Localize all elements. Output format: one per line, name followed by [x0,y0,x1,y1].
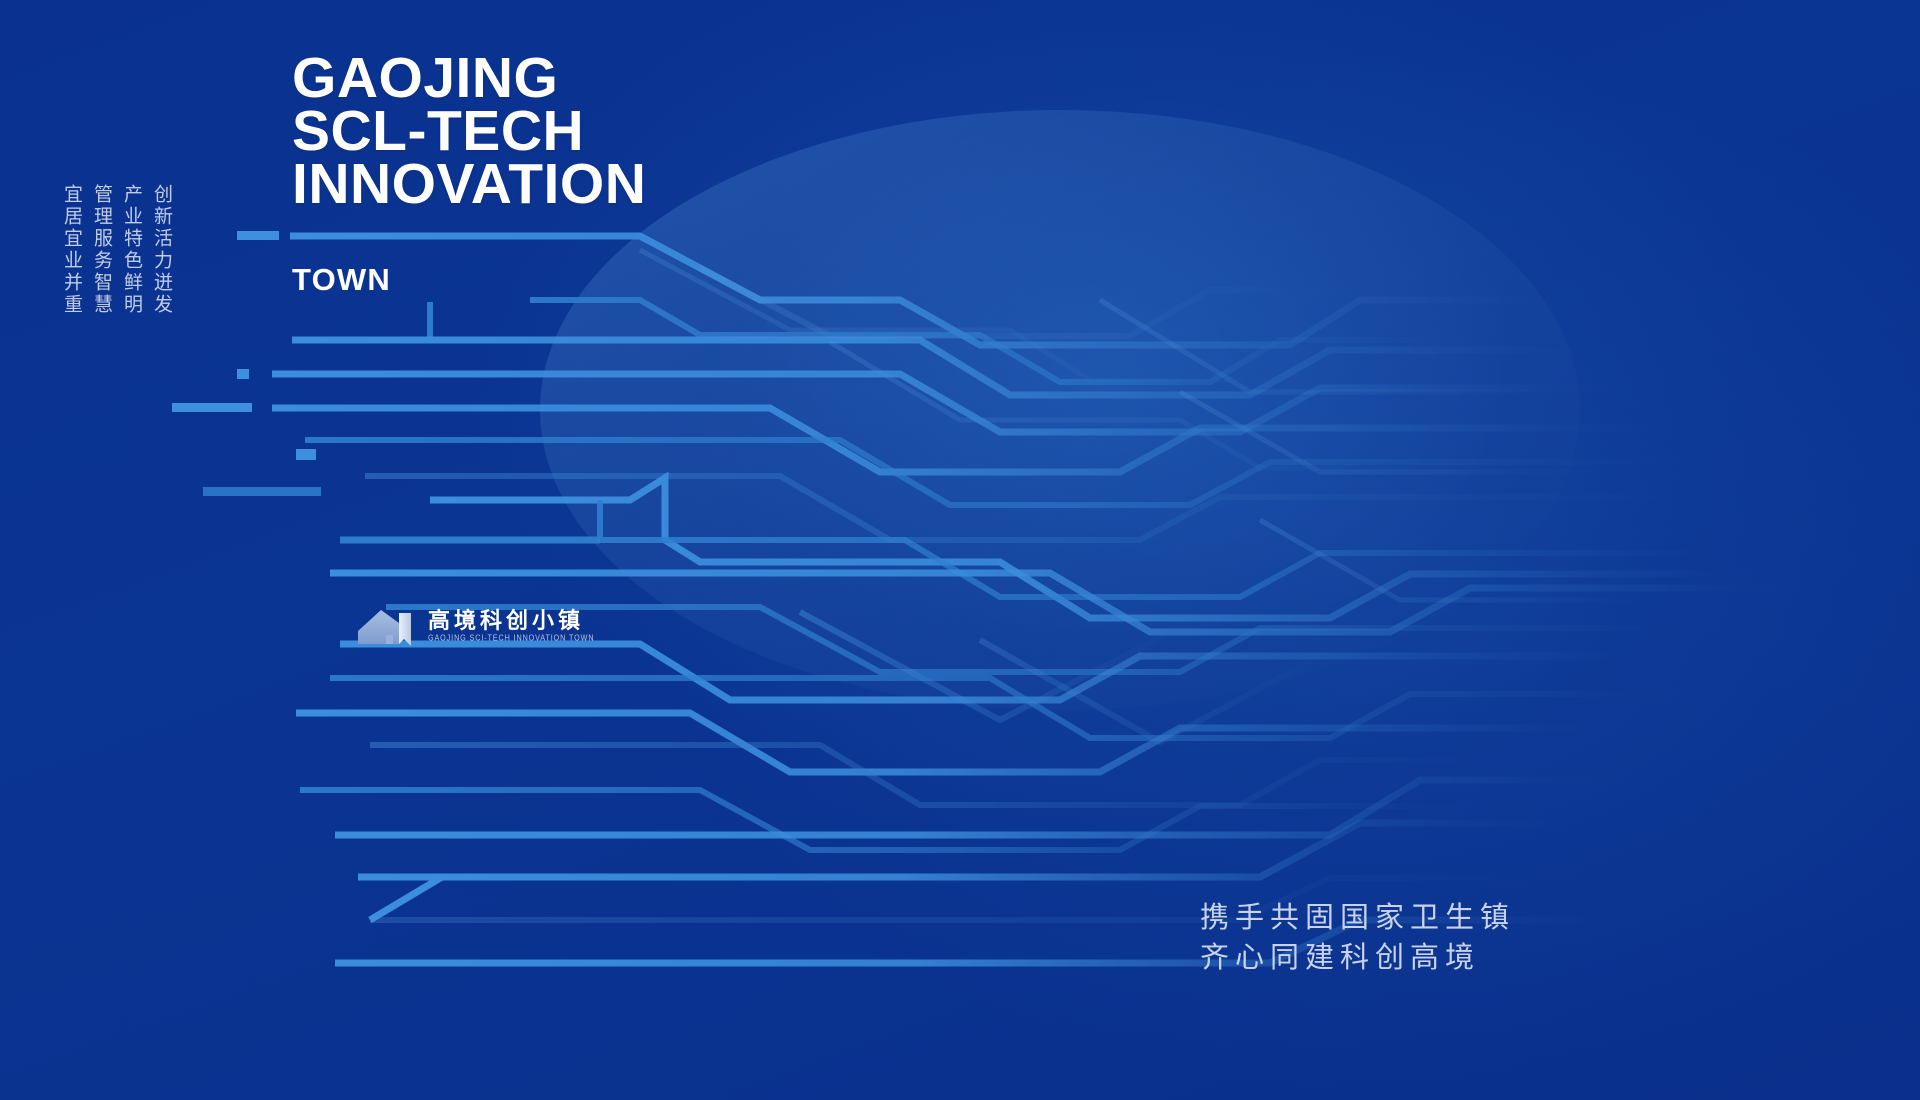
vertical-slogan-col-1: 创新活力迸发 [152,184,171,316]
title-line-3: INNOVATION [292,158,646,211]
footer-slogan: 携手共固国家卫生镇 齐心同建科创高境 [1200,898,1515,978]
brand-logo: 高境科创小镇 GAOJING SCI-TECH INNOVATION TOWN [355,605,594,647]
title-line-1: GAOJING [292,52,646,105]
vertical-slogan-col-2: 产业特色鲜明 [122,184,141,316]
poster-canvas: 创新活力迸发 产业特色鲜明 管理服务智慧 宜居宜业并重 GAOJING SCL-… [0,0,1920,1100]
house-roof-icon [355,605,417,647]
title-line-2: SCL-TECH [292,105,646,158]
logo-name-cn: 高境科创小镇 [428,610,594,632]
title-line-4: TOWN [292,262,391,298]
vertical-slogan-col-4: 宜居宜业并重 [62,184,81,316]
logo-name-en: GAOJING SCI-TECH INNOVATION TOWN [428,634,594,642]
vertical-slogan: 创新活力迸发 产业特色鲜明 管理服务智慧 宜居宜业并重 [62,184,171,316]
circuit-trace-lines [0,0,1920,1100]
footer-slogan-line-2: 齐心同建科创高境 [1200,938,1515,978]
page-title: GAOJING SCL-TECH INNOVATION [292,52,646,211]
vertical-slogan-col-3: 管理服务智慧 [92,184,111,316]
footer-slogan-line-1: 携手共固国家卫生镇 [1200,898,1515,938]
